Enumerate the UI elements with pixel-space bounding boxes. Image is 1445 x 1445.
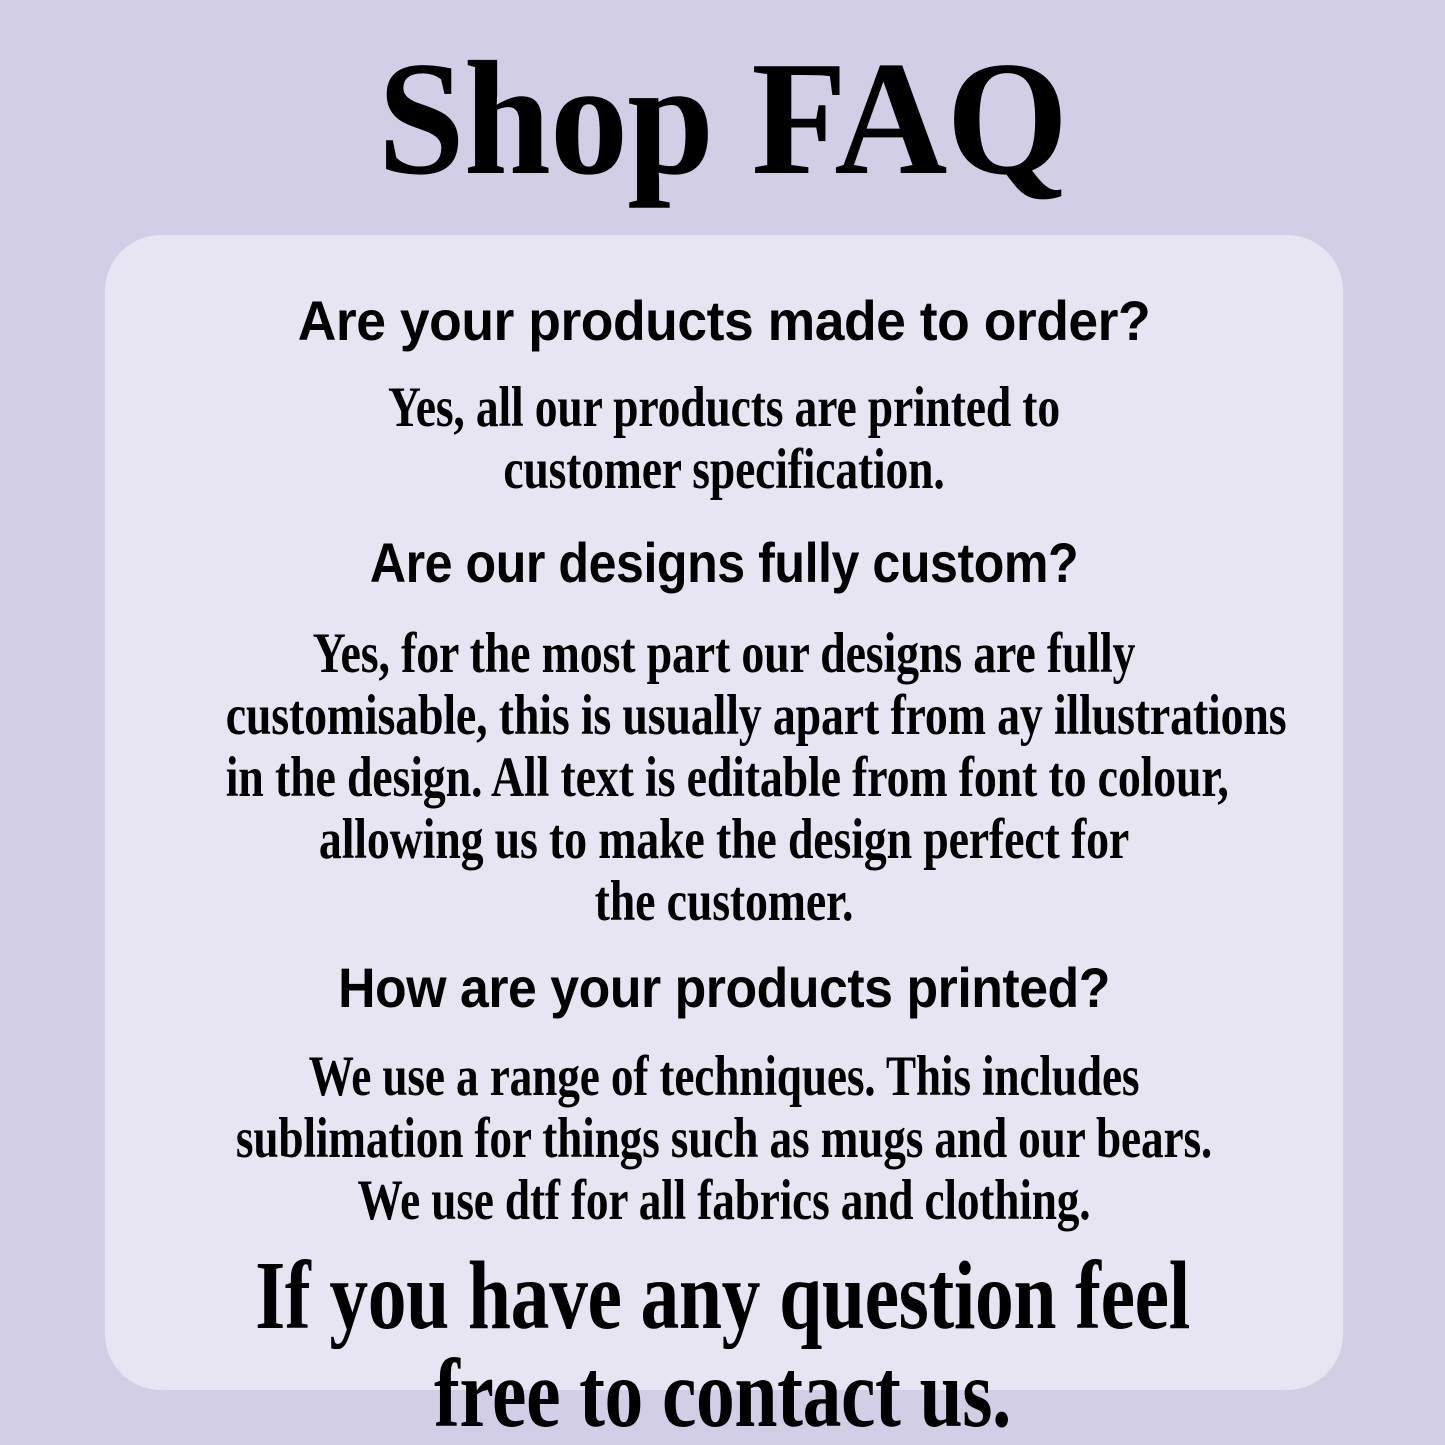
faq-answer: Yes, for the most part our designs are f… bbox=[105, 623, 1343, 933]
faq-question: Are our designs fully custom? bbox=[170, 535, 1278, 591]
faq-answer-line: customer specification. bbox=[229, 439, 1219, 501]
page-title: Shop FAQ bbox=[29, 36, 1416, 202]
faq-question: Are your products made to order? bbox=[133, 293, 1315, 349]
closing-note-line: If you have any question feel bbox=[145, 1247, 1301, 1345]
closing-note: If you have any question feel free to co… bbox=[0, 1247, 1445, 1443]
faq-answer-line: Yes, all our products are printed to bbox=[229, 377, 1219, 439]
faq-item: How are your products printed? We use a … bbox=[105, 960, 1343, 1232]
faq-answer-line: Yes, for the most part our designs are f… bbox=[226, 623, 1223, 685]
closing-note-line: free to contact us. bbox=[145, 1345, 1301, 1443]
faq-answer-line: We use a range of techniques. This inclu… bbox=[232, 1046, 1216, 1108]
faq-graphic: Shop FAQ Are your products made to order… bbox=[0, 0, 1445, 1445]
faq-answer-line: in the design. All text is editable from… bbox=[226, 747, 1223, 809]
faq-item: Are your products made to order? Yes, al… bbox=[105, 293, 1343, 501]
faq-answer-line: We use dtf for all fabrics and clothing. bbox=[232, 1170, 1216, 1232]
faq-item: Are our designs fully custom? Yes, for t… bbox=[105, 535, 1343, 933]
faq-answer: Yes, all our products are printed to cus… bbox=[105, 377, 1343, 501]
faq-answer-line: the customer. bbox=[226, 871, 1223, 933]
faq-answer-line: allowing us to make the design perfect f… bbox=[226, 809, 1223, 871]
faq-answer-line: customisable, this is usually apart from… bbox=[226, 685, 1223, 747]
faq-answer: We use a range of techniques. This inclu… bbox=[105, 1046, 1343, 1232]
faq-answer-line: sublimation for things such as mugs and … bbox=[232, 1108, 1216, 1170]
faq-list: Are your products made to order? Yes, al… bbox=[105, 235, 1343, 1390]
faq-question: How are your products printed? bbox=[151, 960, 1296, 1016]
